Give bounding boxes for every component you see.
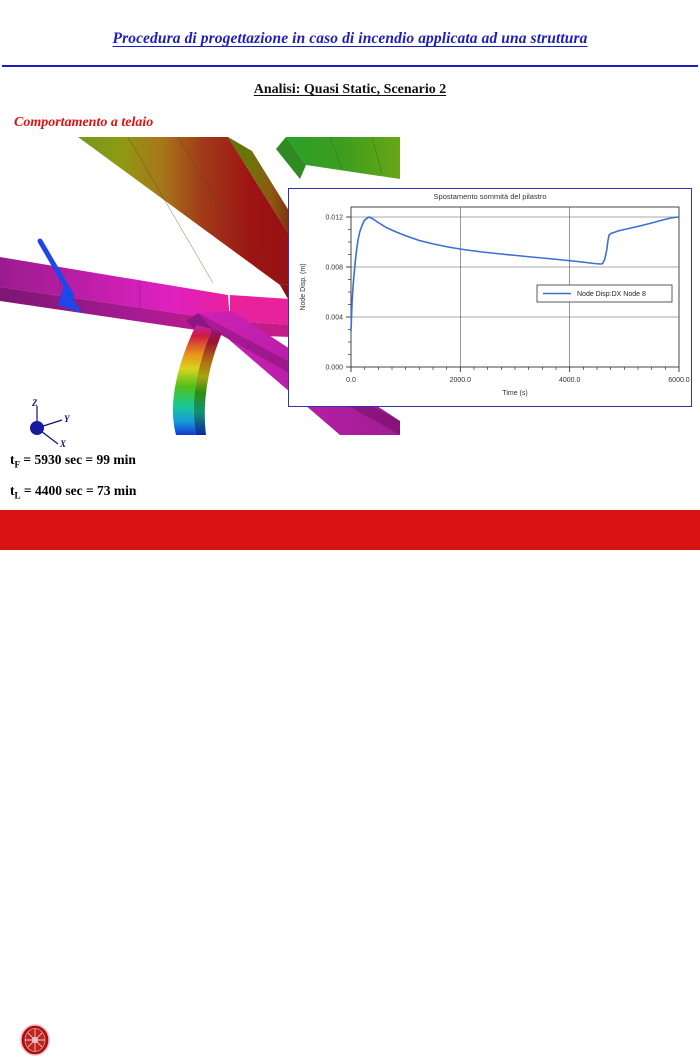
label-tF-value: = 5930 sec = 99 min — [20, 452, 136, 467]
beam-top-right-green — [276, 137, 400, 179]
y-tick-label: 0.012 — [325, 215, 343, 222]
chart-series-line — [351, 217, 679, 331]
analysis-title: Analisi: Quasi Static, Scenario 2 — [254, 82, 447, 98]
footer-divider — [637, 1022, 638, 1058]
label-time-limit: tL = 4400 sec = 73 min — [10, 483, 136, 501]
x-tick-label: 2000.0 — [450, 377, 472, 384]
footer-citation-rest: , BONTEMPI : “ANALISI PRESTAZIONALI DI S… — [111, 1030, 533, 1041]
y-tick-label: 0.008 — [325, 265, 343, 272]
section-subtitle: Comportamento a telaio — [14, 115, 153, 131]
y-axis-title: Node Disp. (m) — [300, 263, 307, 310]
analysis-title-container: Analisi: Quasi Static, Scenario 2 — [0, 80, 700, 98]
axis-label-x: X — [60, 439, 66, 449]
y-tick-label: 0.000 — [325, 365, 343, 372]
x-tick-label: 0.0 — [346, 377, 356, 384]
footer-citation: CROSTI, BONTEMPI : “ANALISI PRESTAZIONAL… — [72, 1030, 622, 1041]
column-deformed — [173, 325, 222, 435]
label-time-failure: tF = 5930 sec = 99 min — [10, 452, 136, 470]
x-tick-label: 4000.0 — [559, 377, 581, 384]
x-axis-title: Time (s) — [502, 390, 527, 397]
x-tick-label: 6000.0 — [668, 377, 690, 384]
header-divider — [2, 65, 698, 67]
footer-author-underlined: CROSTI — [72, 1030, 111, 1041]
slide-root: Procedura di progettazione in caso di in… — [0, 0, 700, 550]
chart-panel: Spostamento sommità del pilastro 0.0000.… — [288, 188, 692, 407]
university-seal-logo — [18, 1024, 52, 1056]
page-number: 45/57 — [640, 1030, 690, 1042]
axis-triad: Z Y X — [12, 398, 92, 453]
page-title: Procedura di progettazione in caso di in… — [113, 30, 588, 48]
slide-title-container: Procedura di progettazione in caso di in… — [0, 30, 700, 48]
chart-svg: 0.0000.0040.0080.0120.02000.04000.06000.… — [289, 189, 690, 405]
label-tL-value: = 4400 sec = 73 min — [21, 483, 137, 498]
axis-label-z: Z — [32, 398, 38, 408]
axis-triad-svg — [12, 398, 92, 453]
axis-label-y: Y — [64, 414, 70, 424]
y-tick-label: 0.004 — [325, 315, 343, 322]
chart-legend-label: Node Disp:DX Node 8 — [577, 291, 646, 298]
footer-bar: CROSTI, BONTEMPI : “ANALISI PRESTAZIONAL… — [0, 510, 700, 550]
